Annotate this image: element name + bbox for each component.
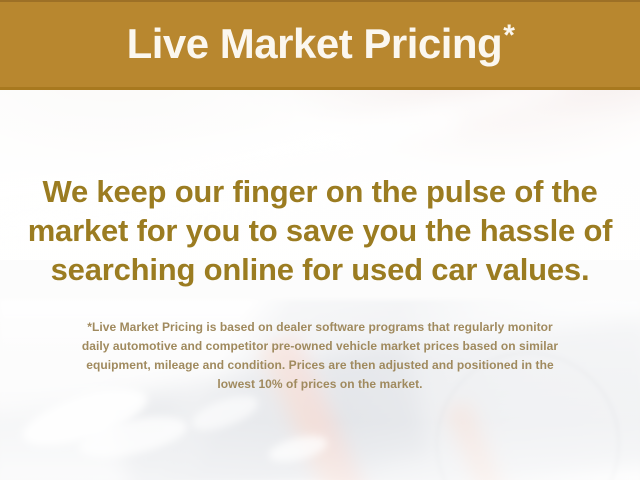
marketing-slide: Live Market Pricing* We keep our finger …	[0, 0, 640, 480]
page-title-text: Live Market Pricing	[127, 20, 503, 67]
page-title: Live Market Pricing*	[127, 23, 514, 65]
disclaimer-block: *Live Market Pricing is based on dealer …	[30, 318, 610, 394]
headline-block: We keep our finger on the pulse of the m…	[26, 172, 614, 289]
disclaimer-line: equipment, mileage and condition. Prices…	[30, 356, 610, 375]
disclaimer-line: *Live Market Pricing is based on dealer …	[30, 318, 610, 337]
headline-line: We keep our finger on the pulse of the	[26, 172, 614, 211]
page-title-asterisk: *	[503, 19, 514, 52]
headline-line: searching online for used car values.	[26, 250, 614, 289]
disclaimer-line: lowest 10% of prices on the market.	[30, 375, 610, 394]
disclaimer-line: daily automotive and competitor pre-owne…	[30, 337, 610, 356]
headline-line: market for you to save you the hassle of	[26, 211, 614, 250]
header-banner: Live Market Pricing*	[0, 0, 640, 90]
